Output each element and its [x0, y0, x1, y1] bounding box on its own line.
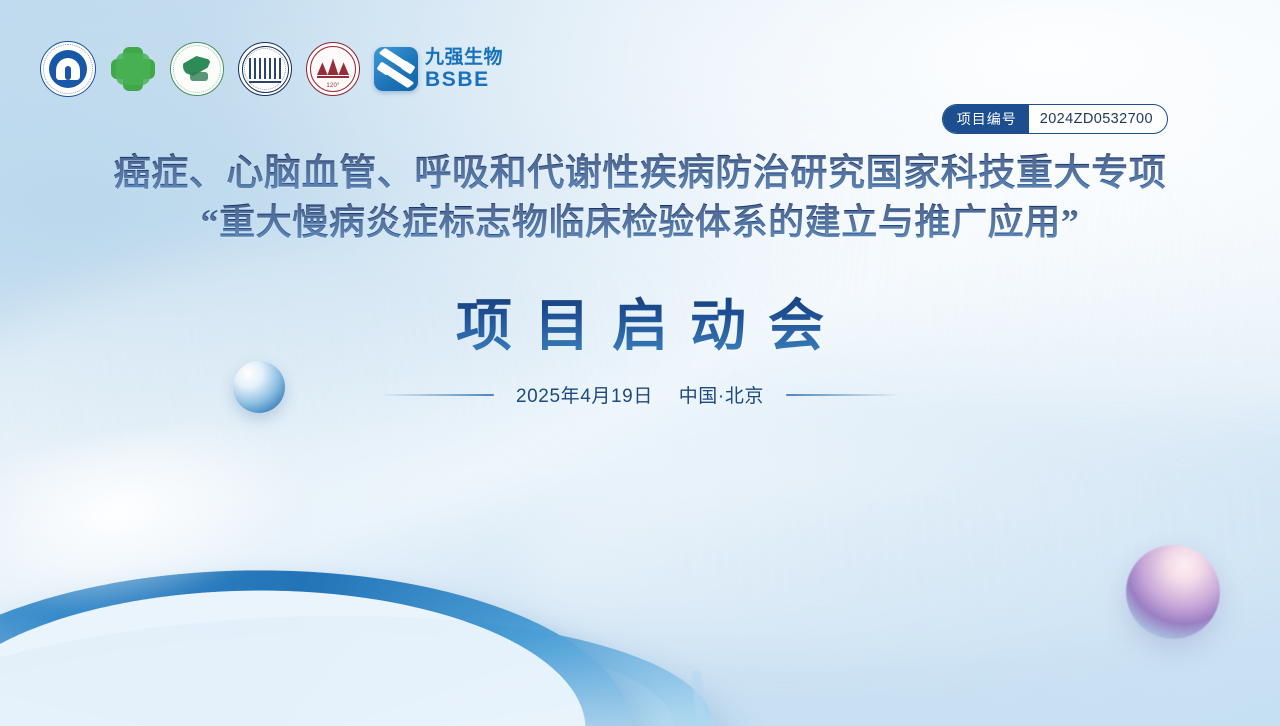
bsbe-name-cn: 九强生物: [425, 48, 503, 67]
project-number-label: 项目编号: [943, 105, 1029, 133]
title-block: 癌症、心脑血管、呼吸和代谢性疾病防治研究国家科技重大专项 “重大慢病炎症标志物临…: [0, 150, 1280, 246]
shandong-university-logo-icon: 120°: [306, 42, 360, 96]
bsbe-mark-icon: [374, 47, 418, 91]
bsbe-name-en: BSBE: [425, 69, 503, 90]
poster-canvas: 120° 九强生物 BSBE 项目编号 2024ZD0532700 癌症、心脑血…: [0, 0, 1280, 726]
event-meta-text: 2025年4月19日 中国·北京: [516, 381, 764, 408]
bsbe-logo: 九强生物 BSBE: [374, 43, 503, 95]
event-meta-row: 2025年4月19日 中国·北京: [0, 381, 1280, 408]
event-location: 中国·北京: [679, 386, 764, 407]
program-title-line-2: “重大慢病炎症标志物临床检验体系的建立与推广应用”: [0, 199, 1280, 247]
project-number-value: 2024ZD0532700: [1029, 105, 1167, 133]
bsbe-wordmark: 九强生物 BSBE: [425, 48, 503, 90]
project-number-badge: 项目编号 2024ZD0532700: [942, 104, 1168, 134]
program-title-line-1: 癌症、心脑血管、呼吸和代谢性疾病防治研究国家科技重大专项: [0, 150, 1280, 199]
sdu-anniversary-label: 120°: [306, 83, 360, 89]
cams-logo-icon: [40, 41, 96, 97]
event-date: 2025年4月19日: [516, 386, 653, 407]
glossy-ring-graphic: [0, 355, 730, 726]
meta-rule-right: [786, 394, 900, 396]
event-headline: 项目启动会: [0, 281, 1280, 362]
iridescent-sphere-icon: [1126, 545, 1220, 639]
peking-university-logo-icon: [238, 42, 292, 96]
green-cross-logo-icon: [110, 45, 156, 93]
green-seal-logo-icon: [170, 42, 224, 96]
logo-row: 120° 九强生物 BSBE: [40, 40, 503, 98]
meta-rule-left: [380, 394, 494, 396]
